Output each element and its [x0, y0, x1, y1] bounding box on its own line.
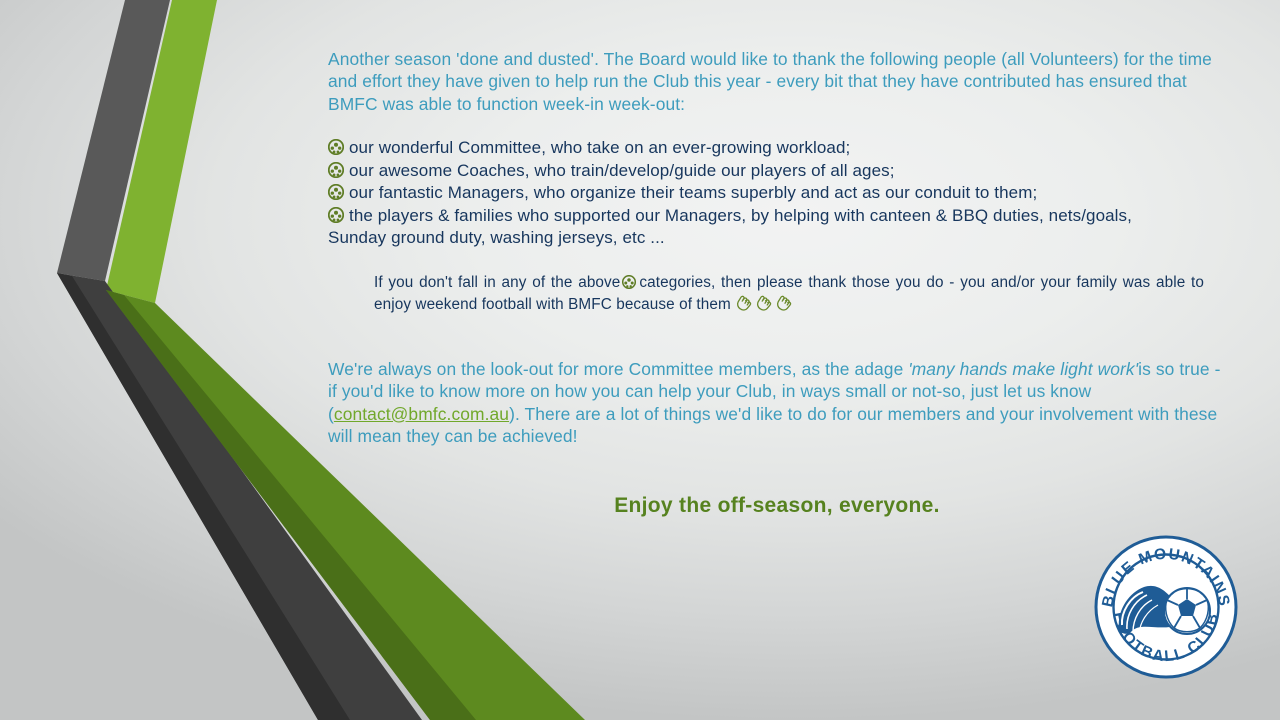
clapping-hands-icon — [735, 294, 793, 312]
list-item: our wonderful Committee, who take on an … — [328, 137, 1228, 160]
list-item-label: our wonderful Committee, who take on an … — [349, 138, 850, 157]
intro-paragraph: Another season 'done and dusted'. The Bo… — [328, 48, 1224, 115]
blue-mountains-football-club-logo: BLUE MOUNTAINS FOOTBALL CLUB — [1092, 533, 1240, 681]
list-item: our awesome Coaches, who train/develop/g… — [328, 160, 1228, 183]
soccer-ball-icon — [328, 207, 344, 223]
signoff-line: Enjoy the off-season, everyone. — [328, 494, 1226, 518]
list-item-label: our fantastic Managers, who organize the… — [349, 183, 1037, 202]
list-item: the players & families who supported our… — [328, 205, 1228, 228]
soccer-ball-icon — [328, 162, 344, 178]
soccer-ball-icon — [328, 184, 344, 200]
list-item: our fantastic Managers, who organize the… — [328, 182, 1228, 205]
soccer-ball-icon — [328, 139, 344, 155]
list-item-continuation: Sunday ground duty, washing jerseys, etc… — [328, 227, 1228, 250]
adage-quote: 'many hands make light work' — [908, 359, 1138, 379]
callout-paragraph: We're always on the look-out for more Co… — [328, 358, 1226, 448]
soccer-ball-icon — [622, 275, 636, 289]
list-item-label: our awesome Coaches, who train/develop/g… — [349, 161, 895, 180]
list-item-label: the players & families who supported our… — [349, 206, 1132, 225]
indented-text-before: If you don't fall in any of the above — [374, 274, 620, 291]
contact-email-link[interactable]: contact@bmfc.com.au — [334, 404, 509, 424]
slide-canvas: Another season 'done and dusted'. The Bo… — [0, 0, 1280, 720]
soccer-ball-emblem — [1164, 588, 1210, 634]
thanks-bullet-list: our wonderful Committee, who take on an … — [328, 137, 1228, 250]
callout-text-part1: We're always on the look-out for more Co… — [328, 359, 903, 379]
indented-paragraph: If you don't fall in any of the above ca… — [374, 272, 1204, 315]
